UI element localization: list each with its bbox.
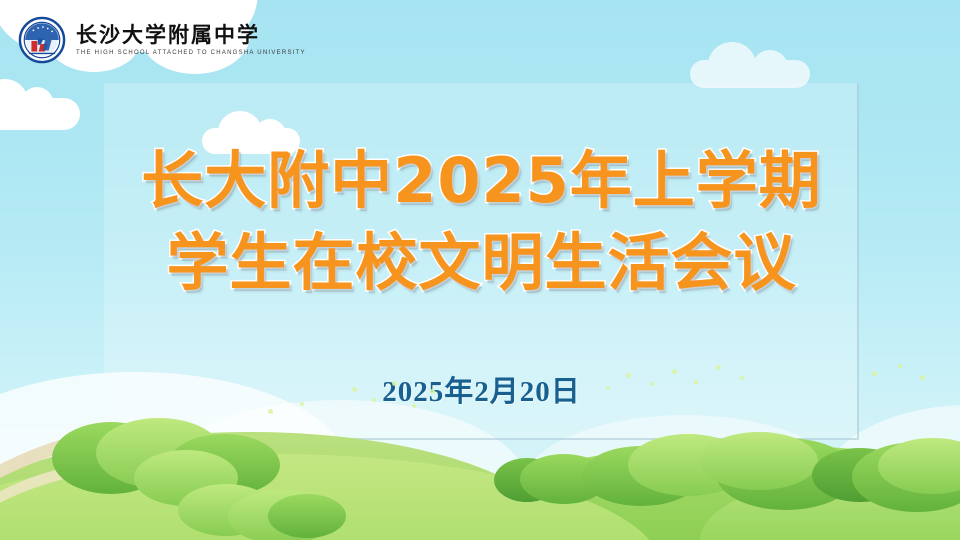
school-name-cn: 长沙大学附属中学 — [76, 24, 306, 47]
school-crest-icon — [18, 16, 66, 64]
title-line-1: 长大附中2025年上学期 — [104, 140, 859, 222]
bush-right-g — [700, 432, 818, 490]
ground-landscape — [0, 420, 960, 540]
school-name-en: THE HIGH SCHOOL ATTACHED TO CHANGSHA UNI… — [76, 50, 306, 56]
title-block: 长大附中2025年上学期 学生在校文明生活会议 — [104, 140, 859, 304]
title-line-2: 学生在校文明生活会议 — [104, 222, 859, 304]
bush-front-c — [268, 494, 346, 538]
cloud-left-icon — [0, 98, 80, 130]
slide-canvas: 长沙大学附属中学 THE HIGH SCHOOL ATTACHED TO CHA… — [0, 0, 960, 540]
school-brand: 长沙大学附属中学 THE HIGH SCHOOL ATTACHED TO CHA… — [18, 16, 306, 64]
meeting-date: 2025年2月20日 — [104, 368, 859, 410]
